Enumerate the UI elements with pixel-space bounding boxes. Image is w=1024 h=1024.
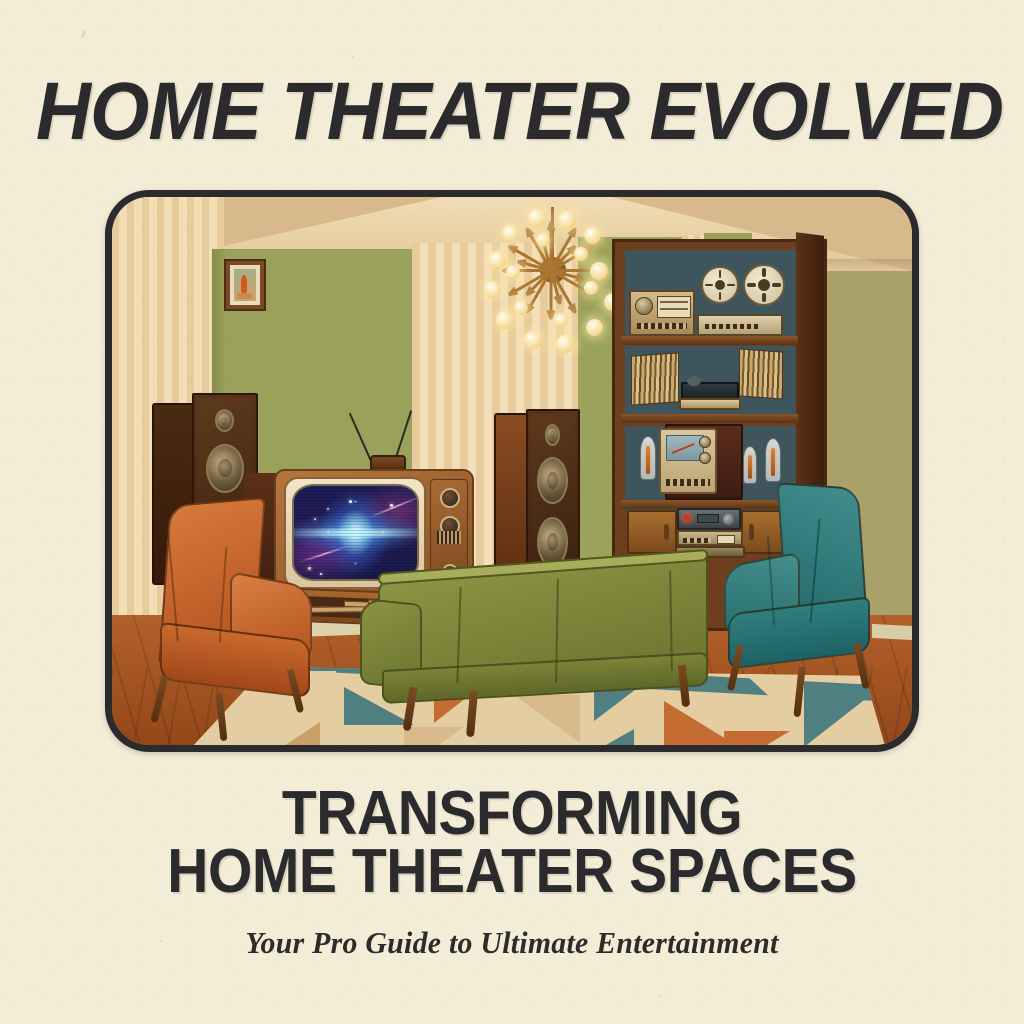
chandelier-bulb [524, 331, 542, 349]
vu-needle [672, 443, 695, 454]
art-shape [237, 293, 252, 299]
cone-center [221, 417, 227, 425]
tape-reel-right [743, 264, 785, 306]
rug-shape [724, 731, 790, 745]
reel-spoke [772, 283, 781, 286]
reel-spoke [719, 270, 722, 278]
reel-spoke [727, 284, 735, 287]
amp-knob [699, 436, 711, 448]
tuner-scale [660, 301, 688, 303]
deck-buttons [683, 538, 711, 543]
radio-tuner [629, 290, 695, 336]
reel-spoke [705, 284, 713, 287]
reel-hub [758, 279, 770, 291]
tube-filament [771, 448, 775, 476]
tape-reel-left [701, 266, 739, 304]
chandelier-bulb [556, 335, 574, 353]
turntable-base [679, 398, 741, 410]
tube-amplifier [659, 428, 717, 494]
speaker-tweeter [215, 409, 234, 432]
chandelier-bulb [502, 225, 519, 242]
poster-tagline: Your Pro Guide to Ultimate Entertainment [20, 925, 1003, 961]
framed-art-large [224, 259, 266, 311]
tv-speaker-grill [437, 531, 461, 544]
reel-spoke [762, 293, 765, 302]
speaker-midrange [537, 457, 568, 503]
chandelier-bulb [558, 211, 576, 229]
poster-headline: HOME THEATER EVOLVED [36, 70, 988, 154]
paper-speck [80, 30, 86, 39]
poster-canvas: HOME THEATER EVOLVED [0, 0, 1024, 1024]
reel-hub [715, 280, 726, 291]
cabinet-handle[interactable] [664, 524, 669, 540]
vinyl-record-collection-right [739, 348, 783, 399]
shelf-board [621, 336, 798, 345]
art-image [234, 269, 256, 301]
cabinet-door-left[interactable] [627, 510, 677, 554]
paper-speck [660, 995, 662, 997]
chandelier-bulb [496, 311, 514, 329]
olive-sofa [360, 565, 710, 735]
tuner-dial [635, 297, 653, 315]
chandelier-bulb [536, 233, 550, 247]
chair-leg [150, 675, 168, 723]
poster-subtitle: TRANSFORMING HOME THEATER SPACES [41, 785, 983, 901]
tuner-scale [660, 308, 688, 310]
chandelier-bulb [584, 227, 601, 244]
power-led [683, 514, 691, 522]
living-room-scene [112, 197, 912, 745]
tuner-display [657, 296, 691, 318]
chair-leg [853, 643, 869, 689]
reel-spoke [719, 292, 722, 300]
shelf-board [621, 414, 798, 423]
cone-center [547, 533, 558, 551]
turntable-platter [687, 376, 701, 386]
tv-channel-knob[interactable] [440, 488, 460, 508]
cone-center [218, 459, 232, 477]
chandelier-bulb [574, 247, 588, 261]
chandelier-bulb [586, 319, 603, 336]
amp-knob [699, 452, 711, 464]
chandelier-bulb [484, 281, 501, 298]
chair-leg [793, 667, 805, 717]
tuner-buttons [637, 323, 687, 329]
deck-buttons [705, 324, 761, 329]
chandelier-bulb [590, 262, 608, 280]
receiver-display [697, 514, 719, 523]
amp-buttons [666, 479, 710, 486]
paper-speck [160, 940, 162, 942]
speaker-midrange [206, 444, 244, 493]
teal-armchair [722, 475, 902, 725]
speaker-baffle [531, 414, 575, 580]
subtitle-line-2: HOME THEATER SPACES [41, 843, 983, 901]
reel-spoke [762, 268, 765, 277]
cone-center [547, 472, 558, 489]
tube-filament [646, 446, 650, 474]
paper-speck [352, 56, 354, 58]
orange-armchair [126, 497, 316, 745]
chandelier-bulb [514, 301, 528, 315]
reel-to-reel-deck [697, 314, 783, 336]
cone-center [550, 431, 554, 438]
chandelier-bulb [554, 313, 568, 327]
chandelier-bulb [584, 281, 598, 295]
illustration-frame [105, 190, 919, 752]
chandelier-bulb [528, 209, 546, 227]
chandelier-bulb [488, 251, 506, 269]
vacuum-tube [640, 436, 656, 480]
reel-spoke [747, 283, 756, 286]
chair-leg [216, 693, 228, 741]
speaker-tweeter [545, 424, 560, 446]
vinyl-record-collection [631, 352, 679, 405]
chandelier-bulb [506, 265, 520, 279]
art-shape [241, 275, 248, 293]
